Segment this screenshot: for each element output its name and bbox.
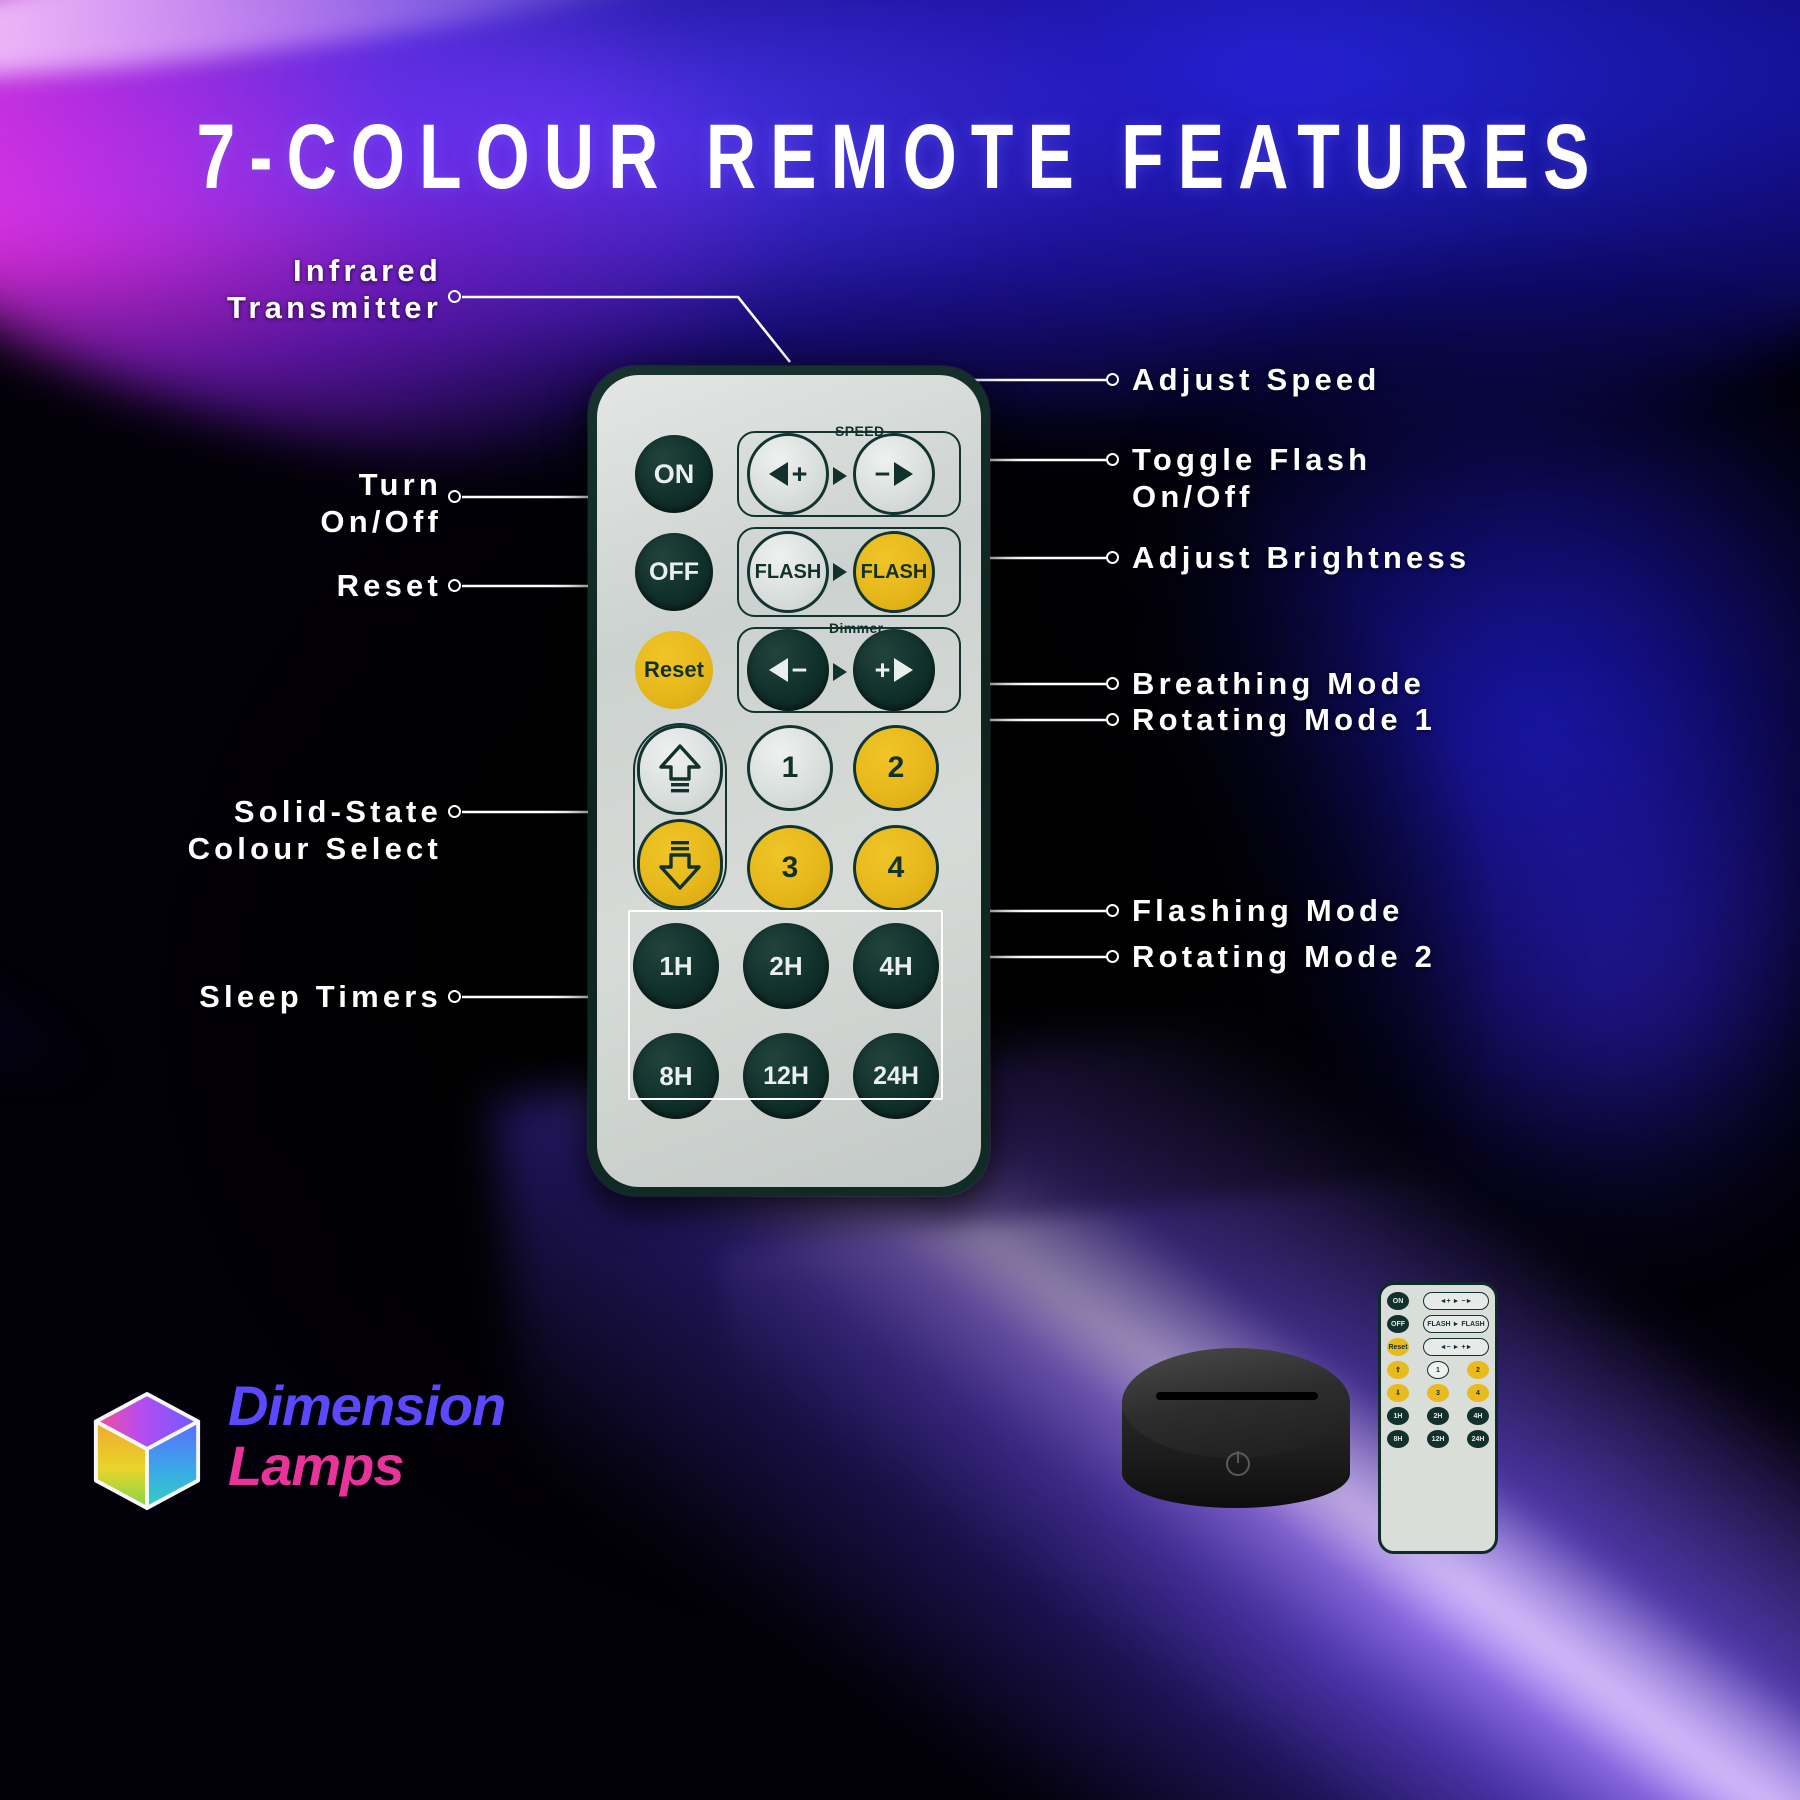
leader-dot-sleep-timers: [448, 990, 461, 1003]
power-icon: [1226, 1452, 1250, 1476]
mini-button-mode-3: 3: [1427, 1384, 1449, 1402]
rainbow-cube-icon: [88, 1388, 206, 1516]
remote-button-dimmer-down[interactable]: −: [747, 629, 829, 711]
mini-button-timer-12h: 12H: [1427, 1430, 1449, 1448]
mini-button-on: ON: [1387, 1292, 1409, 1310]
mini-flash-group: FLASH ► FLASH: [1423, 1315, 1489, 1333]
chevron-right-icon-speed: [833, 467, 847, 485]
mini-button-timer-1h: 1H: [1387, 1407, 1409, 1425]
lamp-base-top: [1122, 1348, 1350, 1458]
leader-dot-adjust-brightness: [1106, 551, 1119, 564]
chevron-right-icon-flash: [833, 563, 847, 581]
remote-button-speed-down[interactable]: +: [747, 433, 829, 515]
lamp-base-panel-slot: [1156, 1392, 1318, 1400]
remote-button-dimmer-up[interactable]: +: [853, 629, 935, 711]
mini-button-colour-up: ⇧: [1387, 1361, 1409, 1379]
remote-button-flash-off[interactable]: FLASH: [747, 531, 829, 613]
down-arrow-icon: [658, 837, 702, 891]
label-toggle-flash-on-off: Toggle Flash On/Off: [1132, 441, 1772, 515]
mini-remote-row-6: 1H 2H 4H: [1387, 1407, 1489, 1425]
right-arrow-icon: [894, 462, 913, 486]
right-arrow-icon-dimmer: [894, 658, 913, 682]
remote-button-off[interactable]: OFF: [635, 533, 713, 611]
mini-flash-right: FLASH: [1461, 1321, 1484, 1328]
mini-button-colour-down: ⇩: [1387, 1384, 1409, 1402]
label-adjust-brightness: Adjust Brightness: [1132, 539, 1792, 576]
brand-line-lamps: Lamps: [228, 1438, 558, 1494]
page-title: 7-COLOUR REMOTE FEATURES: [63, 104, 1737, 209]
remote-button-colour-down[interactable]: [637, 819, 723, 909]
chevron-right-icon-dimmer: [833, 663, 847, 681]
label-rotating-mode-2: Rotating Mode 2: [1132, 938, 1772, 975]
mini-button-timer-4h: 4H: [1467, 1407, 1489, 1425]
mini-remote-row-4: ⇧ 1 2: [1387, 1361, 1489, 1379]
remote-button-mode-4[interactable]: 4: [853, 825, 939, 911]
remote-button-mode-3[interactable]: 3: [747, 825, 833, 911]
label-solid-state-colour-select: Solid-State Colour Select: [22, 793, 442, 867]
lamp-base-product-photo: [1122, 1348, 1350, 1543]
mini-button-timer-24h: 24H: [1467, 1430, 1489, 1448]
mini-remote-row-3: Reset ◄− ► +►: [1387, 1338, 1489, 1356]
mini-speed-group: ◄+ ► −►: [1423, 1292, 1489, 1310]
leader-dot-infrared-transmitter: [448, 290, 461, 303]
leader-dot-rotating-mode-1: [1106, 713, 1119, 726]
left-arrow-icon: [769, 462, 788, 486]
mini-flash-left: FLASH: [1427, 1321, 1450, 1328]
remote-button-colour-up[interactable]: [637, 725, 723, 815]
leader-dot-adjust-speed: [1106, 373, 1119, 386]
leader-dot-flashing-mode: [1106, 904, 1119, 917]
mini-button-timer-8h: 8H: [1387, 1430, 1409, 1448]
label-flashing-mode: Flashing Mode: [1132, 892, 1772, 929]
leader-dot-toggle-flash-on-off: [1106, 453, 1119, 466]
leader-dot-rotating-mode-2: [1106, 950, 1119, 963]
label-turn-on-off: Turn On/Off: [22, 466, 442, 540]
sleep-timers-highlight-box: [628, 910, 943, 1100]
mini-remote-row-5: ⇩ 3 4: [1387, 1384, 1489, 1402]
mini-remote-product-photo: ON ◄+ ► −► OFF FLASH ► FLASH Reset ◄− ► …: [1378, 1282, 1498, 1554]
dimmer-up-sign: +: [875, 655, 891, 686]
speed-down-sign: +: [792, 459, 808, 490]
mini-remote-row-7: 8H 12H 24H: [1387, 1430, 1489, 1448]
mini-button-mode-1: 1: [1427, 1361, 1449, 1379]
leader-dot-turn-on-off: [448, 490, 461, 503]
remote-button-speed-up[interactable]: −: [853, 433, 935, 515]
mini-button-mode-4: 4: [1467, 1384, 1489, 1402]
mini-remote-row-2: OFF FLASH ► FLASH: [1387, 1315, 1489, 1333]
brand-logo: Dimension Lamps: [88, 1370, 558, 1560]
remote-button-flash-on[interactable]: FLASH: [853, 531, 935, 613]
brand-line-dimension: Dimension: [228, 1378, 558, 1434]
up-arrow-icon: [658, 743, 702, 797]
mini-button-mode-2: 2: [1467, 1361, 1489, 1379]
brand-wordmark: Dimension Lamps: [228, 1378, 558, 1494]
mini-button-timer-2h: 2H: [1427, 1407, 1449, 1425]
left-arrow-icon-dimmer: [769, 658, 788, 682]
remote-button-mode-2[interactable]: 2: [853, 725, 939, 811]
label-rotating-mode-1: Rotating Mode 1: [1132, 701, 1772, 738]
mini-button-reset: Reset: [1387, 1338, 1409, 1356]
mini-remote-row-1: ON ◄+ ► −►: [1387, 1292, 1489, 1310]
leader-dot-breathing-mode: [1106, 677, 1119, 690]
leader-dot-solid-state-colour-select: [448, 805, 461, 818]
remote-button-mode-1[interactable]: 1: [747, 725, 833, 811]
mini-dimmer-group: ◄− ► +►: [1423, 1338, 1489, 1356]
label-reset: Reset: [22, 567, 442, 604]
remote-button-on[interactable]: ON: [635, 435, 713, 513]
speed-up-sign: −: [875, 459, 891, 490]
label-infrared-transmitter: Infrared Transmitter: [22, 252, 442, 326]
label-adjust-speed: Adjust Speed: [1132, 361, 1772, 398]
mini-button-off: OFF: [1387, 1315, 1409, 1333]
label-sleep-timers: Sleep Timers: [22, 978, 442, 1015]
leader-dot-reset: [448, 579, 461, 592]
remote-button-reset[interactable]: Reset: [635, 631, 713, 709]
dimmer-down-sign: −: [792, 655, 808, 686]
label-breathing-mode: Breathing Mode: [1132, 665, 1772, 702]
